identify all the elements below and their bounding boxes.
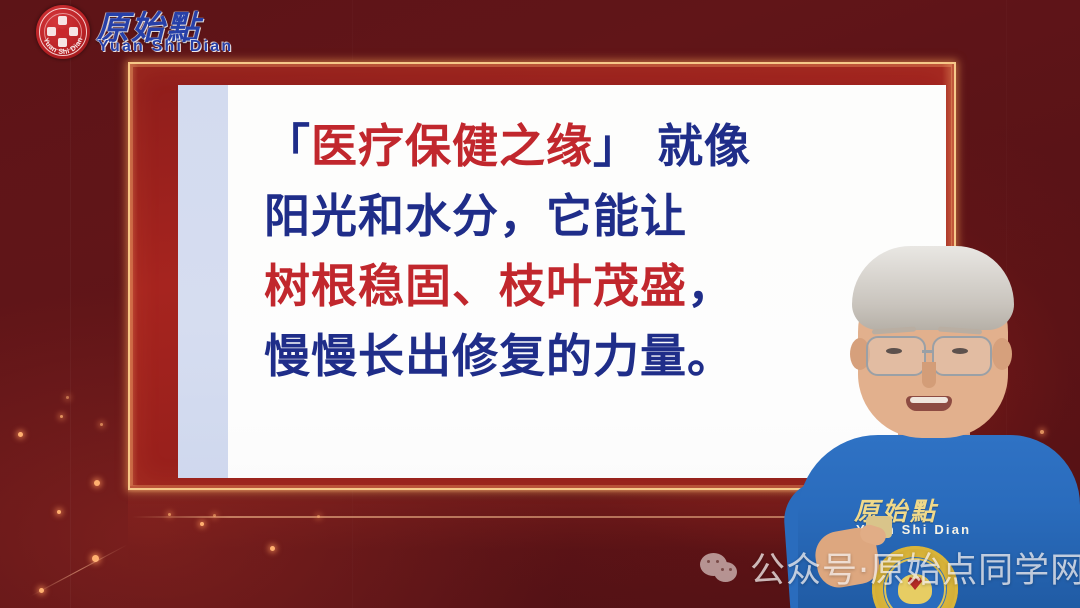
presenter-teeth: [910, 397, 948, 403]
wechat-bubble-small: [714, 562, 737, 582]
presenter-hair: [852, 246, 1014, 330]
slide-line-2-seg-1: 阳光和水分，它能让: [264, 189, 687, 243]
light-particle: [270, 546, 275, 551]
slide-line-3-seg-2: ，: [687, 259, 734, 313]
light-particle: [39, 588, 44, 593]
wechat-dot: [729, 568, 732, 571]
wechat-dot: [721, 568, 724, 571]
wechat-icon: [700, 553, 740, 583]
light-particle: [66, 396, 69, 399]
light-particle: [317, 515, 320, 518]
channel-logo: Yuan Shi Dian 原始點 Yuan Shi Dian: [36, 2, 256, 60]
wechat-dot: [707, 560, 710, 563]
slide-line-3-seg-1: 树根稳固、枝叶茂盛: [264, 259, 687, 313]
channel-logo-en: Yuan Shi Dian: [98, 38, 233, 56]
light-particle: [168, 513, 171, 516]
slide-line-1-seg-3: 」 就像: [593, 119, 751, 173]
presenter-glasses-lens: [932, 336, 992, 376]
presenter-glasses-lens: [866, 336, 926, 376]
light-particle: [100, 423, 103, 426]
light-particle: [200, 522, 204, 526]
backdrop-seam: [70, 0, 71, 608]
light-particle: [60, 415, 63, 418]
presenter-glasses-bridge: [922, 350, 932, 353]
slide-line-1: 「医疗保健之缘」 就像: [264, 111, 928, 181]
light-particle: [57, 510, 61, 514]
light-particle: [92, 555, 99, 562]
slide-accent-stripe: [178, 85, 228, 478]
channel-logo-cn: 原始點: [96, 1, 201, 39]
seal-arc-text: Yuan Shi Dian: [36, 5, 90, 59]
light-streak: [30, 544, 128, 597]
presenter-nose: [922, 362, 936, 388]
svg-text:Yuan Shi Dian: Yuan Shi Dian: [42, 36, 85, 56]
wechat-bubble-large: [700, 553, 727, 576]
light-particle: [94, 480, 100, 486]
light-particle: [213, 514, 216, 517]
seal-icon: Yuan Shi Dian: [36, 5, 90, 59]
slide-line-1-seg-2: 医疗保健之缘: [311, 119, 593, 173]
video-frame: 「医疗保健之缘」 就像 阳光和水分，它能让 树根稳固、枝叶茂盛， 慢慢长出修复的…: [0, 0, 1080, 608]
light-particle: [18, 432, 23, 437]
wechat-dot: [716, 560, 719, 563]
slide-line-4-seg-1: 慢慢长出修复的力量。: [264, 329, 734, 383]
presenter-ear: [992, 338, 1012, 370]
slide-line-1-seg-1: 「: [264, 119, 311, 173]
presenter-figure: 原始點 Yuan Shi Dian: [780, 230, 1080, 608]
